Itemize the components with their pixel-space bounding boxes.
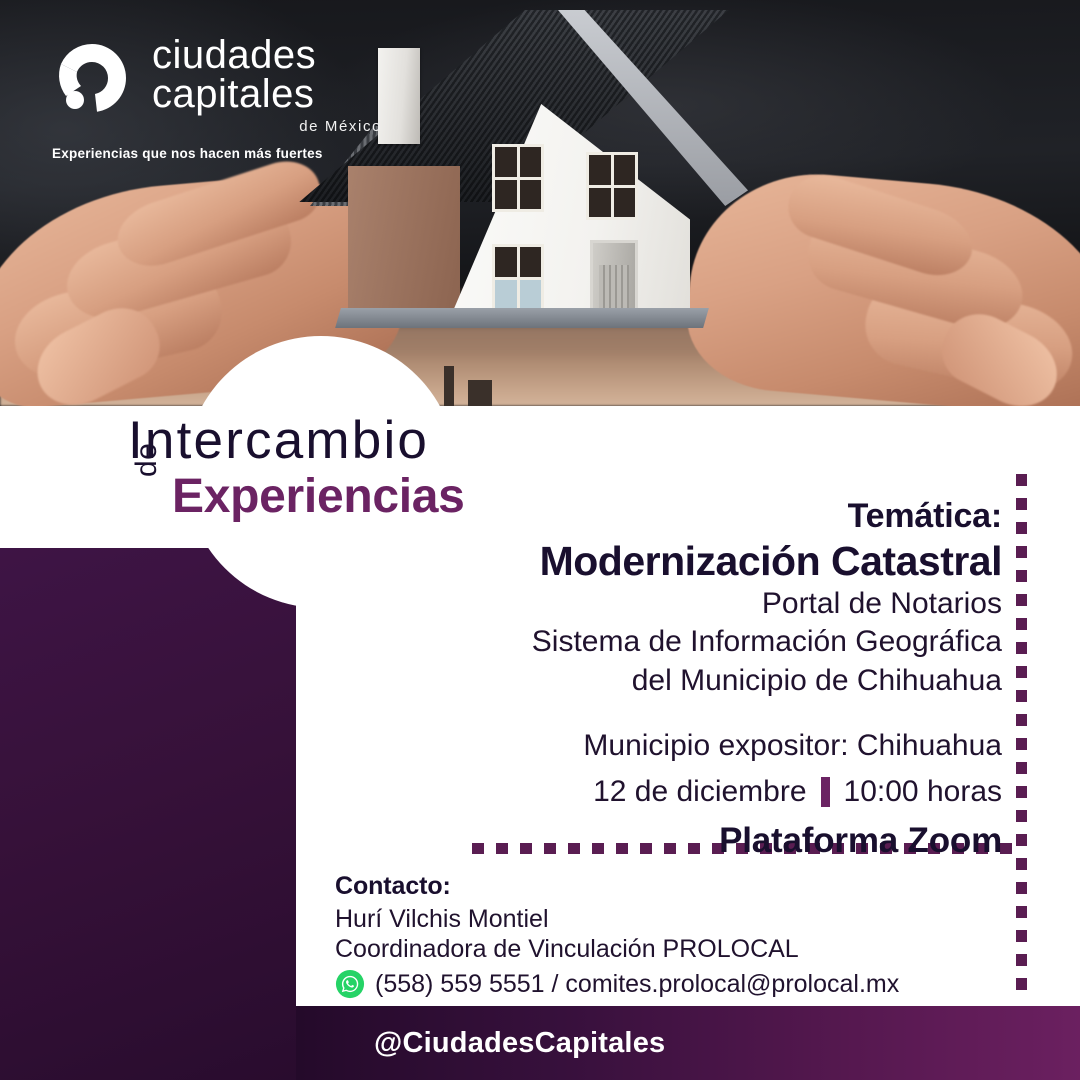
event-platform: Plataforma Zoom <box>382 821 1002 861</box>
brand-line-3: de México <box>152 118 382 135</box>
flyer-canvas: ciudades capitales de México Experiencia… <box>0 0 1080 1080</box>
whatsapp-icon[interactable] <box>335 969 365 999</box>
brand-wordmark: ciudades capitales de México <box>152 36 382 135</box>
contact-title: Contacto: <box>335 872 1015 901</box>
window-icon <box>492 144 544 212</box>
event-time: 10:00 horas <box>844 775 1002 809</box>
broken-ring-c-icon <box>52 38 132 118</box>
headline-connector: de <box>130 443 164 477</box>
contact-name: Hurí Vilchis Montiel <box>335 905 1015 934</box>
event-datetime: 12 de diciembre 10:00 horas <box>382 775 1002 809</box>
event-date: 12 de diciembre <box>593 775 806 809</box>
presenting-municipality: Municipio expositor: Chihuahua <box>382 729 1002 763</box>
side-window <box>468 380 492 406</box>
chimney <box>378 48 420 144</box>
event-subtitle-3: del Municipio de Chihuahua <box>382 663 1002 700</box>
event-subtitle-2: Sistema de Información Geográfica <box>382 624 1002 661</box>
contact-role: Coordinadora de Vinculación PROLOCAL <box>335 935 1015 964</box>
event-subtitle-1: Portal de Notarios <box>382 586 1002 623</box>
brand-tagline: Experiencias que nos hacen más fuertes <box>52 146 323 161</box>
social-handle[interactable]: @CiudadesCapitales <box>374 1027 665 1060</box>
window-icon <box>492 244 544 312</box>
tema-label: Temática: <box>382 498 1002 535</box>
hero-photo: ciudades capitales de México Experiencia… <box>0 0 1080 406</box>
door-icon <box>590 240 638 318</box>
side-window <box>444 366 454 406</box>
footer-bar: @CiudadesCapitales <box>296 1006 1080 1080</box>
dotted-vertical-divider <box>1016 474 1027 1002</box>
headline-main: Intercambio <box>128 414 548 467</box>
brand-line-2: capitales <box>152 75 382 114</box>
datetime-separator <box>821 777 830 807</box>
house-side-wall <box>348 166 460 316</box>
contact-phone-email[interactable]: (558) 559 5551 / comites.prolocal@proloc… <box>375 970 899 999</box>
contact-phone-row: (558) 559 5551 / comites.prolocal@proloc… <box>335 969 1015 999</box>
contact-block: Contacto: Hurí Vilchis Montiel Coordinad… <box>335 872 1015 999</box>
brand-logo: ciudades capitales de México <box>52 34 382 164</box>
event-topic: Modernización Catastral <box>382 539 1002 583</box>
left-purple-panel <box>0 548 296 1080</box>
brand-line-1: ciudades <box>152 36 382 75</box>
event-details: Temática: Modernización Catastral Portal… <box>382 498 1002 861</box>
window-icon <box>586 152 638 220</box>
house-base <box>335 308 709 328</box>
